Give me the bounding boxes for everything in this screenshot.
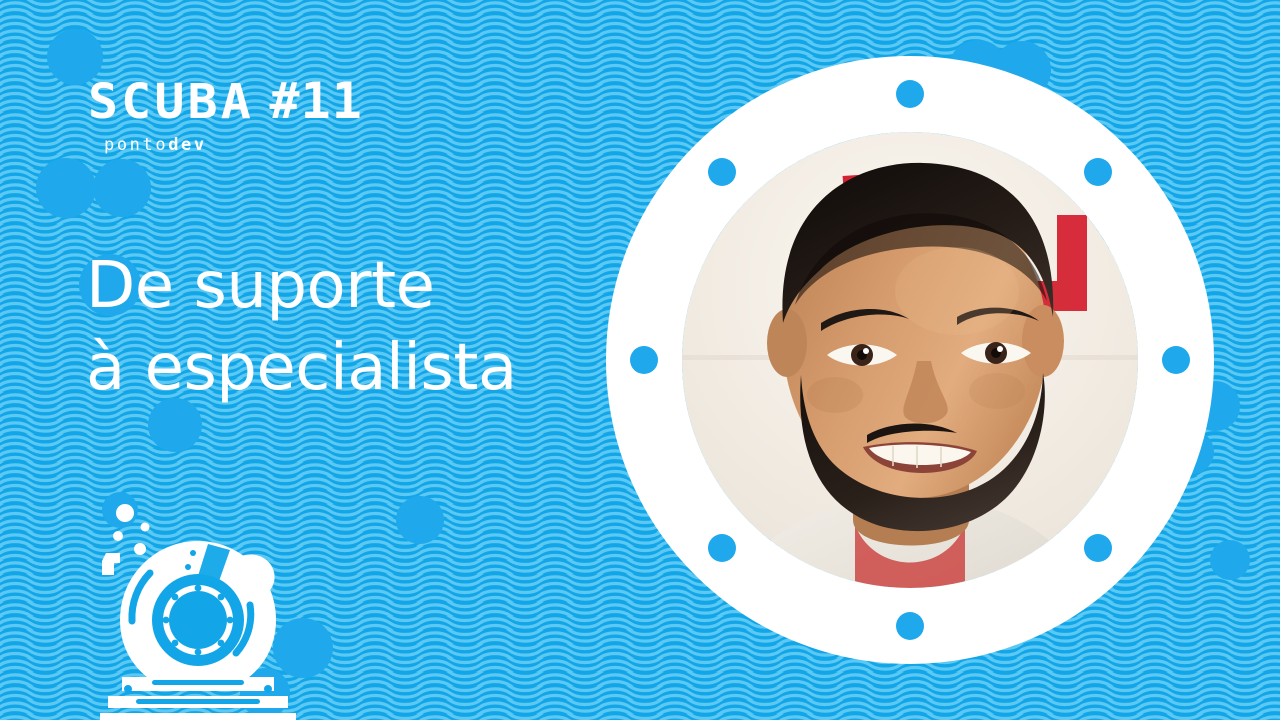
bubble-7 (396, 496, 444, 544)
guest-portrait-porthole (605, 55, 1215, 665)
episode-number: #11 (270, 76, 363, 126)
bubble-3 (93, 159, 151, 217)
scuba-wordmark: SCUBA (88, 78, 254, 126)
bubble-14 (1210, 540, 1250, 580)
headline-line-1: De suporte (86, 246, 517, 328)
headline-line-2: à especialista (86, 328, 517, 410)
pontodev-wordmark: pontodev (104, 137, 207, 154)
helmet-bubble-4 (134, 543, 146, 555)
pontodev-regular: ponto (104, 135, 168, 155)
pontodev-bold: dev (168, 135, 207, 155)
helmet-bubble-1 (116, 504, 134, 522)
diver-helmet-icon (78, 487, 318, 720)
video-thumbnail: SCUBA pontodev #11 De suporte à especial… (0, 0, 1280, 720)
page-title: De suporte à especialista (86, 246, 517, 410)
brand-lockup: SCUBA pontodev #11 (88, 78, 363, 154)
bubble-2 (36, 158, 96, 218)
helmet-bubble-3 (113, 531, 123, 541)
helmet-bubble-2 (141, 523, 150, 532)
